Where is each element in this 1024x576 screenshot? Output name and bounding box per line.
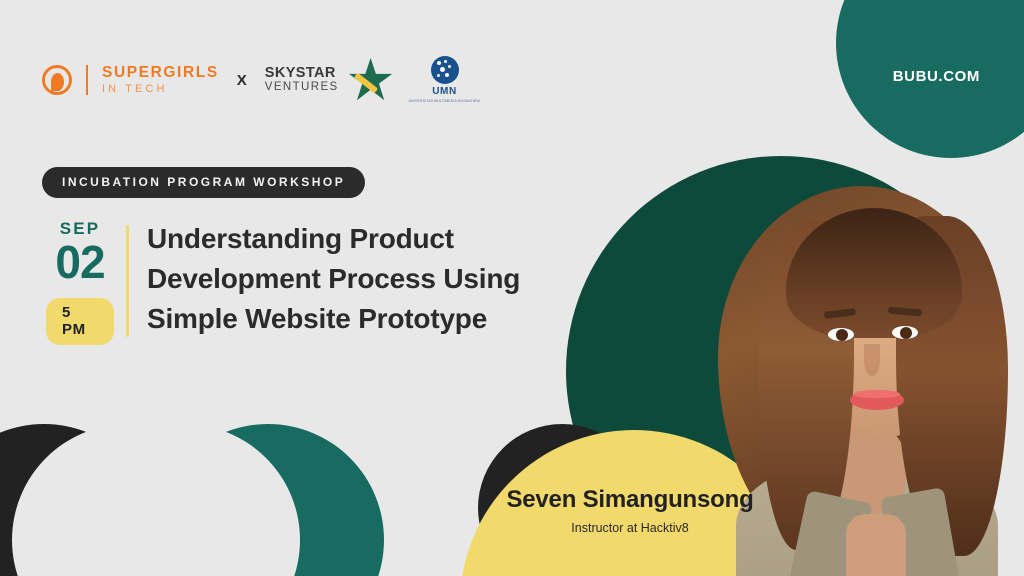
- event-headline-block: SEP 02 5 PM Understanding Product Develo…: [46, 219, 520, 345]
- skystar-subtitle: VENTURES: [265, 82, 339, 94]
- event-date-block: SEP 02 5 PM: [46, 219, 114, 345]
- teal-petal-shape: [152, 424, 384, 576]
- umn-name: UMN: [432, 86, 457, 97]
- collaboration-cross-label: X: [237, 72, 247, 89]
- logo-divider: [86, 65, 88, 95]
- supergirls-subtitle: IN TECH: [102, 84, 219, 95]
- event-title-line: Understanding Product: [147, 219, 520, 259]
- speaker-name: Seven Simangunsong: [430, 486, 830, 514]
- speaker-role: Instructor at Hacktiv8: [430, 521, 830, 535]
- program-badge: INCUBATION PROGRAM WORKSHOP: [42, 167, 365, 198]
- umn-globe-icon: [431, 56, 459, 84]
- speaker-info: Seven Simangunsong Instructor at Hacktiv…: [430, 486, 830, 535]
- event-title-line: Simple Website Prototype: [147, 299, 520, 339]
- event-title: Understanding Product Development Proces…: [147, 219, 520, 338]
- umn-tagline: UNIVERSITAS MULTIMEDIA NUSANTARA: [409, 99, 481, 104]
- bubu-site-label: BUBU.COM: [893, 68, 980, 85]
- poster-canvas: SUPERGIRLS IN TECH X SKYSTAR VENTURES UM…: [0, 0, 1024, 576]
- partner-logo-bar: SUPERGIRLS IN TECH X SKYSTAR VENTURES UM…: [42, 56, 480, 104]
- skystar-star-icon: [349, 58, 393, 102]
- supergirls-name: SUPERGIRLS: [102, 65, 219, 81]
- event-day: 02: [55, 241, 104, 284]
- skystar-wordmark: SKYSTAR VENTURES: [265, 66, 339, 94]
- skystar-name: SKYSTAR: [265, 66, 339, 81]
- umn-logo: UMN UNIVERSITAS MULTIMEDIA NUSANTARA: [409, 56, 481, 104]
- supergirls-globe-icon: [42, 65, 72, 95]
- supergirls-wordmark: SUPERGIRLS IN TECH: [102, 65, 219, 95]
- event-title-line: Development Process Using: [147, 259, 520, 299]
- event-time-pill: 5 PM: [46, 298, 114, 345]
- dark-petal-shape: [0, 424, 160, 576]
- vertical-divider: [126, 225, 129, 337]
